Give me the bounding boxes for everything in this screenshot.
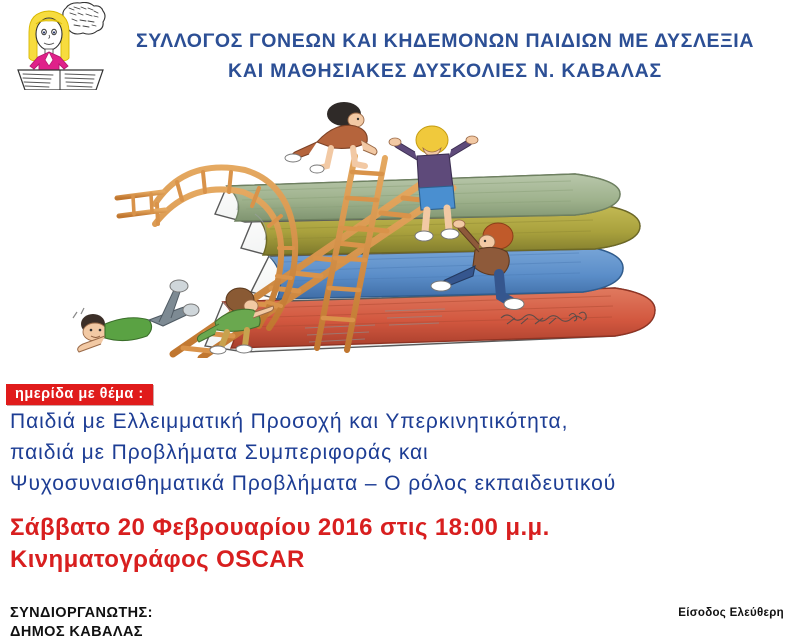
topic-line-2: παιδιά με Προβλήματα Συμπεριφοράς και — [10, 437, 796, 468]
association-title-line1: ΣΥΛΛΟΓΟΣ ΓΟΝΕΩΝ ΚΑΙ ΚΗΔΕΜΟΝΩΝ ΠΑΙΔΙΩΝ ΜΕ… — [92, 26, 798, 56]
footer-admission: Είσοδος Ελεύθερη — [678, 604, 784, 623]
event-info: Σάββατο 20 Φεβρουαρίου 2016 στις 18:00 μ… — [10, 512, 796, 576]
topic-line-3: Ψυχοσυναισθηματικά Προβλήματα – Ο ρόλος … — [10, 468, 796, 499]
co-organizer-name: ΔΗΜΟΣ ΚΑΒΑΛΑΣ — [10, 623, 153, 642]
child-lying-on-ground — [73, 280, 199, 352]
illustration-svg — [55, 96, 695, 358]
co-organizer-label: ΣΥΝΔΙΟΡΓΑΝΩΤΗΣ: — [10, 604, 153, 623]
topic-line-1: Παιδιά με Ελλειμματική Προσοχή και Υπερκ… — [10, 406, 796, 437]
face-shape — [36, 18, 62, 50]
event-datetime: Σάββατο 20 Φεβρουαρίου 2016 στις 18:00 μ… — [10, 512, 796, 544]
association-title-line2: ΚΑΙ ΜΑΘΗΣΙΑΚΕΣ ΔΥΣΚΟΛΙΕΣ Ν. ΚΑΒΑΛΑΣ — [92, 56, 798, 86]
topic-badge: ημερίδα με θέμα : — [6, 384, 153, 405]
header-titles: ΣΥΛΛΟΓΟΣ ΓΟΝΕΩΝ ΚΑΙ ΚΗΔΕΜΟΝΩΝ ΠΑΙΔΙΩΝ ΜΕ… — [92, 26, 798, 86]
topic-body: Παιδιά με Ελλειμματική Προσοχή και Υπερκ… — [10, 406, 796, 499]
event-venue: Κινηματογράφος OSCAR — [10, 544, 796, 576]
poster-header: ΣΥΛΛΟΓΟΣ ΓΟΝΕΩΝ ΚΑΙ ΚΗΔΕΜΟΝΩΝ ΠΑΙΔΙΩΝ ΜΕ… — [0, 0, 800, 95]
child-top-crawling — [285, 102, 377, 173]
open-book-icon — [18, 70, 103, 90]
footer-co-organizer: ΣΥΝΔΙΟΡΓΑΝΩΤΗΣ: ΔΗΜΟΣ ΚΑΒΑΛΑΣ — [10, 604, 153, 642]
admission-text: Είσοδος Ελεύθερη — [678, 604, 784, 623]
illustration-children-climbing-books — [55, 96, 695, 358]
